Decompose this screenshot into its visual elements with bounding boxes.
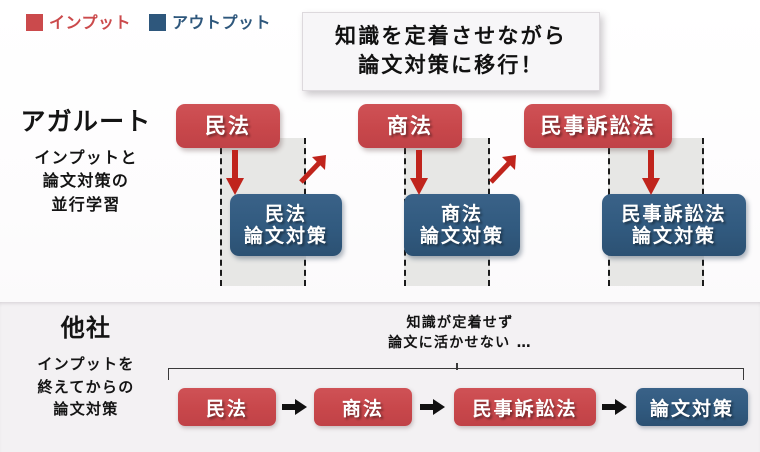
output-box-1-line-2: 論文対策 <box>244 225 328 247</box>
agaroot-subtitle: インプットと 論文対策の 並行学習 <box>0 146 172 217</box>
output-box-1[interactable]: 民法 論文対策 <box>230 194 342 256</box>
legend-label-output: アウトプット <box>172 15 271 31</box>
flow-box-2-label: 商法 <box>342 394 384 421</box>
flow-box-3[interactable]: 民事訴訟法 <box>454 388 596 426</box>
output-box-2[interactable]: 商法 論文対策 <box>404 194 520 256</box>
agaroot-label-group: アガルート インプットと 論文対策の 並行学習 <box>0 108 172 217</box>
black-right-arrow-icon-1 <box>282 397 308 417</box>
bottom-note-line-1: 知識が定着せず <box>330 313 590 333</box>
legend-item-input: インプット <box>26 14 131 31</box>
tasha-label-group: 他社 インプットを 終えてからの 論文対策 <box>0 315 172 420</box>
input-box-3-label: 民事訴訟法 <box>541 114 656 139</box>
flow-box-1-label: 民法 <box>206 394 248 421</box>
flow-box-4-label: 論文対策 <box>650 394 734 421</box>
agaroot-sub-line-1: インプットと <box>0 146 172 170</box>
bottom-bracket <box>168 368 744 380</box>
input-box-1[interactable]: 民法 <box>176 104 280 148</box>
output-box-2-line-1: 商法 <box>441 203 483 225</box>
input-box-3[interactable]: 民事訴訟法 <box>524 104 672 148</box>
red-down-arrow-icon-3 <box>638 150 664 196</box>
tasha-subtitle: インプットを 終えてからの 論文対策 <box>0 353 172 420</box>
red-diagonal-up-arrow-icon-1 <box>296 152 330 186</box>
output-box-3[interactable]: 民事訴訟法 論文対策 <box>602 194 746 256</box>
bottom-note-line-2: 論文に活かせない … <box>330 333 590 353</box>
tasha-sub-line-2: 終えてからの <box>0 376 172 398</box>
input-box-2[interactable]: 商法 <box>358 104 462 148</box>
tasha-sub-line-3: 論文対策 <box>0 398 172 420</box>
blue-square-swatch-icon <box>149 14 166 31</box>
output-box-3-line-2: 論文対策 <box>632 225 716 247</box>
agaroot-sub-line-2: 論文対策の <box>0 169 172 193</box>
black-right-arrow-icon-3 <box>602 397 628 417</box>
legend: インプット アウトプット <box>26 14 271 31</box>
bottom-note: 知識が定着せず 論文に活かせない … <box>330 313 590 354</box>
legend-label-input: インプット <box>49 15 131 31</box>
infographic-root: インプット アウトプット 知識を定着させながら 論文対策に移行！ アガルート イ… <box>0 0 760 452</box>
agaroot-heading: アガルート <box>0 108 172 136</box>
red-down-arrow-icon-1 <box>222 150 248 196</box>
output-box-3-line-1: 民事訴訟法 <box>621 203 726 225</box>
title-line-2: 論文対策に移行！ <box>303 51 599 80</box>
flow-box-3-label: 民事訴訟法 <box>472 394 577 421</box>
input-box-1-label: 民法 <box>205 114 251 139</box>
red-square-swatch-icon <box>26 14 43 31</box>
flow-box-2[interactable]: 商法 <box>314 388 412 426</box>
output-box-1-line-1: 民法 <box>265 203 307 225</box>
red-diagonal-up-arrow-icon-2 <box>486 152 520 186</box>
title-line-1: 知識を定着させながら <box>303 22 599 51</box>
flow-box-1[interactable]: 民法 <box>178 388 276 426</box>
legend-item-output: アウトプット <box>149 14 271 31</box>
input-box-2-label: 商法 <box>387 114 433 139</box>
red-down-arrow-icon-2 <box>406 150 432 196</box>
flow-box-4[interactable]: 論文対策 <box>636 388 748 426</box>
agaroot-sub-line-3: 並行学習 <box>0 193 172 217</box>
tasha-heading: 他社 <box>0 315 172 341</box>
title-callout: 知識を定着させながら 論文対策に移行！ <box>302 12 600 91</box>
output-box-2-line-2: 論文対策 <box>420 225 504 247</box>
bracket-center-tick <box>456 363 458 370</box>
tasha-sub-line-1: インプットを <box>0 353 172 375</box>
black-right-arrow-icon-2 <box>420 397 446 417</box>
